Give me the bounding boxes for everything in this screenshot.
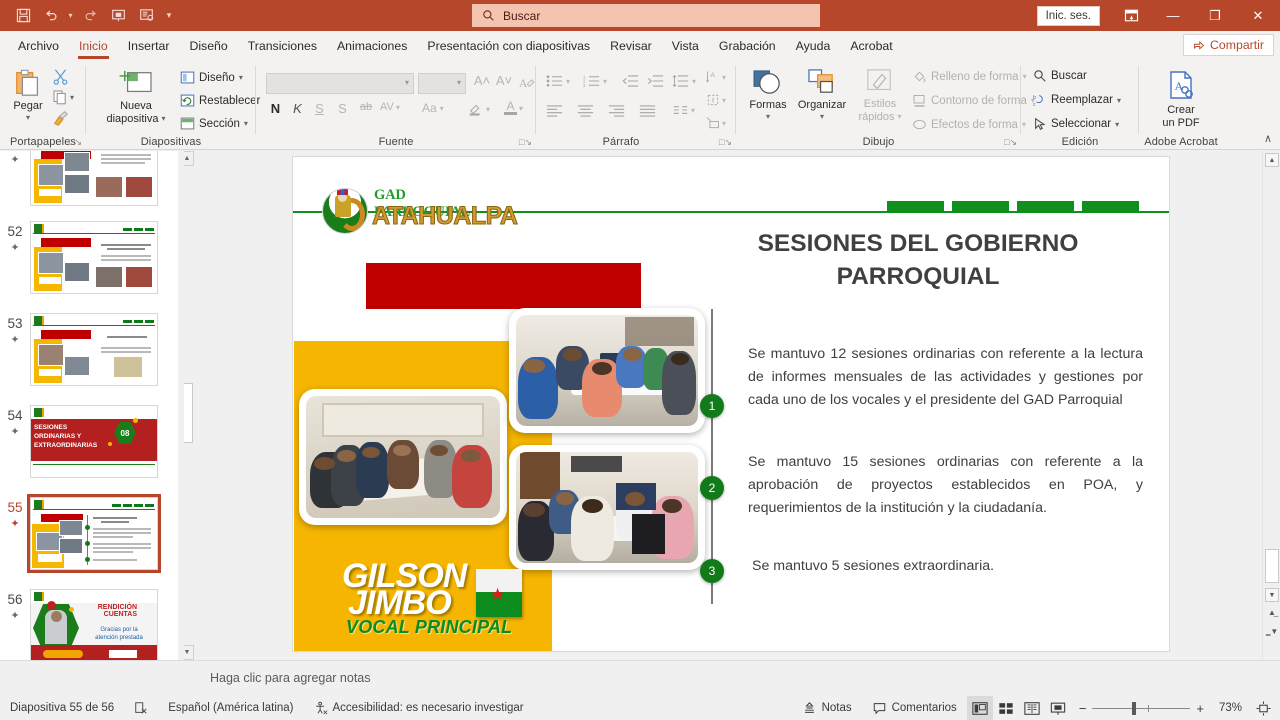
text-direction-button[interactable]: A ▾ [706, 70, 726, 84]
quick-styles-icon [865, 68, 895, 96]
slide-scroll-up-icon[interactable]: ▲ [1265, 153, 1279, 167]
zoom-out-button[interactable]: − [1079, 701, 1087, 716]
shapes-dropdown-icon[interactable]: ▾ [766, 112, 770, 121]
gad-parroquial-logo: GAD PARROQUIAL ATAHUALPA [322, 185, 502, 237]
search-input[interactable]: Buscar [472, 4, 820, 27]
tab-ayuda[interactable]: Ayuda [786, 35, 841, 57]
font-color-dropdown-icon[interactable]: ▾ [519, 104, 523, 113]
quick-styles-label-1: Estilos [864, 98, 896, 111]
notes-pane[interactable]: Haga clic para agregar notas [0, 660, 1280, 696]
ribbon-group-adobe-acrobat: A Crear un PDF Adobe Acrobat [1139, 60, 1223, 150]
align-text-dropdown-icon[interactable]: ▾ [722, 96, 726, 105]
thumbnail-number-54: 54✦ [0, 405, 30, 478]
status-bar: Diapositiva 55 de 56 Español (América la… [0, 696, 1280, 720]
minimize-button[interactable]: — [1152, 0, 1194, 31]
text-shadow-button[interactable]: S [334, 101, 351, 116]
justify-icon [639, 104, 656, 118]
svg-text:b: b [1033, 95, 1036, 101]
font-color-label: A [506, 101, 514, 112]
sign-in-button[interactable]: Inic. ses. [1037, 6, 1100, 26]
undo-dropdown-icon[interactable]: ▾ [66, 4, 75, 28]
text-direction-dropdown-icon[interactable]: ▾ [722, 73, 726, 82]
numbering-dropdown-icon[interactable]: ▾ [603, 77, 607, 86]
animation-star-icon: ✦ [0, 517, 30, 532]
language-status[interactable]: Español (América latina) [158, 696, 303, 720]
accessibility-status[interactable]: Accesibilidad: es necesario investigar [304, 696, 534, 720]
zoom-level[interactable]: 73% [1210, 702, 1242, 714]
font-dialog-launcher[interactable]: □↘ [519, 137, 532, 148]
arrange-dropdown-icon[interactable]: ▾ [820, 112, 824, 121]
thumb56-line1: Gracias por la [83, 626, 155, 634]
text-highlight-button[interactable]: ▾ [468, 101, 490, 117]
collapse-ribbon-button[interactable]: ∧ [1264, 132, 1272, 145]
change-case-dropdown-icon[interactable]: ▾ [440, 104, 444, 113]
cursor-icon [1033, 117, 1047, 131]
fit-slide-to-window-button[interactable] [1250, 696, 1276, 720]
presenter-view-icon[interactable] [133, 4, 159, 28]
notes-toggle[interactable]: Notas [792, 696, 862, 720]
notes-placeholder[interactable]: Haga clic para agregar notas [210, 671, 371, 685]
ribbon-group-fuente: ▾ ▾ A˄ A˅ A N K S S ab AV ▾ Aa ▾ [256, 60, 536, 150]
bullet-number-3: 3 [709, 564, 716, 578]
character-spacing-button[interactable]: AV ▾ [380, 101, 400, 113]
section-dropdown-icon[interactable]: ▾ [244, 119, 248, 128]
tab-grabacion[interactable]: Grabación [709, 35, 786, 57]
thumbnail-number-56: 56✦ [0, 589, 30, 660]
notes-label: Notas [822, 702, 852, 714]
shapes-label: Formas [749, 99, 786, 112]
thumbnail-52[interactable] [30, 221, 158, 294]
new-slide-label-1: Nueva [120, 100, 152, 113]
slide-scroll-down-icon[interactable]: ▼ [1265, 588, 1279, 602]
logo-line-2: ATAHUALPA [372, 202, 517, 231]
accessibility-label: Accesibilidad: es necesario investigar [333, 702, 524, 714]
shape-effects-icon [912, 117, 927, 132]
ribbon-group-dibujo: Formas ▾ Organizar ▾ Estilos r [736, 60, 1021, 150]
undo-icon[interactable] [38, 4, 64, 28]
new-slide-label-2: diapositiva [107, 113, 159, 126]
align-text-button[interactable]: ▾ [706, 93, 726, 107]
animation-star-icon: ✦ [0, 333, 30, 348]
bullet-marker-1: 1 [700, 394, 724, 418]
photo-meeting-laptop[interactable] [509, 308, 705, 433]
signature-block: GILSON JIMBO VOCAL PRINCIPAL ★ [338, 557, 548, 643]
share-button[interactable]: Compartir [1183, 34, 1274, 56]
replace-dropdown-icon[interactable]: ▾ [1117, 96, 1121, 105]
previous-slide-icon[interactable]: ▲̲ [1266, 608, 1278, 617]
shape-effects-button[interactable]: Efectos de forma ▾ [912, 117, 1026, 132]
thumbnail-51[interactable] [30, 151, 158, 206]
underline-button[interactable]: S [311, 101, 328, 116]
clear-formatting-button[interactable]: A [518, 74, 535, 96]
share-label: Compartir [1210, 38, 1264, 52]
thumbnail-row-53: 53✦ [0, 313, 178, 386]
search-placeholder: Buscar [503, 9, 540, 23]
current-slide[interactable]: GAD PARROQUIAL ATAHUALPA SESIONES DEL GO… [293, 157, 1169, 651]
comment-icon [872, 701, 887, 715]
bullets-button[interactable]: ▾ [546, 74, 570, 88]
layout-label: Diseño [199, 72, 235, 84]
align-center-icon [577, 104, 594, 118]
increase-indent-icon [647, 74, 664, 88]
drawing-dialog-launcher[interactable]: □↘ [1004, 137, 1017, 148]
animation-star-icon: ✦ [0, 425, 30, 440]
clear-formatting-icon: A [518, 74, 535, 91]
decrease-indent-button[interactable] [622, 74, 639, 93]
thumb56-line2: atención prestada [83, 634, 155, 642]
clipboard-dialog-launcher[interactable]: □↘ [69, 137, 82, 148]
group-label-dibujo: Dibujo [736, 136, 1021, 148]
start-from-beginning-icon[interactable] [105, 4, 131, 28]
shape-outline-label: Contorno de forma [931, 95, 1027, 107]
align-right-button[interactable] [608, 104, 625, 123]
quick-styles-label-2: rápidos [858, 111, 894, 124]
strikethrough-button[interactable]: ab [356, 101, 376, 113]
search-icon [1033, 69, 1047, 83]
ribbon-display-options-icon[interactable] [1110, 0, 1152, 31]
thumb54-line2: ORDINARIAS Y [34, 432, 97, 441]
change-case-label: Aa [422, 101, 437, 115]
quick-access-toolbar: ▾ ▾ [0, 4, 177, 28]
tab-transiciones[interactable]: Transiciones [238, 35, 327, 57]
shape-outline-icon [912, 93, 927, 108]
font-size-input[interactable]: ▾ [418, 73, 466, 94]
layout-dropdown-icon[interactable]: ▾ [239, 73, 243, 82]
thumbnail-row-54: 54✦ SESIONES ORDINARIAS Y EXTRAORDINARIA… [0, 405, 178, 478]
reading-view-button[interactable] [1019, 696, 1045, 720]
numbered-list-icon: 123 [583, 74, 600, 88]
section-button[interactable]: Sección ▾ [180, 116, 248, 131]
language-label: Español (América latina) [168, 702, 293, 714]
logo-emblem-icon [322, 188, 368, 234]
animation-star-icon: ✦ [0, 153, 30, 168]
copy-button[interactable]: ▾ [52, 89, 74, 105]
bullets-dropdown-icon[interactable]: ▾ [566, 77, 570, 86]
align-left-icon [546, 104, 563, 118]
paste-button[interactable]: Pegar ▾ [8, 68, 48, 122]
animation-star-icon: ✦ [0, 241, 30, 256]
justify-button[interactable] [639, 104, 656, 123]
format-painter-button[interactable] [52, 110, 69, 132]
ribbon-group-diapositivas: Nueva diapositiva ▾ Diseño ▾ Restablecer… [86, 60, 256, 150]
maximize-restore-button[interactable]: ❐ [1194, 0, 1236, 31]
new-slide-button[interactable]: Nueva diapositiva ▾ [100, 68, 172, 125]
paste-icon [13, 68, 43, 98]
tab-animaciones[interactable]: Animaciones [327, 35, 417, 57]
reading-view-icon [1024, 701, 1040, 716]
format-painter-icon [52, 110, 69, 127]
photo-meeting-table[interactable] [299, 389, 507, 525]
thumbnail-56[interactable]: RENDICIÓNCUENTAS Gracias por la atención… [30, 589, 158, 660]
red-banner[interactable] [366, 263, 641, 309]
slide-editing-area[interactable]: GAD PARROQUIAL ATAHUALPA SESIONES DEL GO… [194, 151, 1242, 660]
ribbon-tabs: Archivo Inicio Insertar Diseño Transicio… [0, 31, 1280, 60]
bullet-number-1: 1 [709, 399, 716, 413]
search-icon [482, 9, 495, 22]
cut-button[interactable] [52, 68, 69, 90]
notes-icon [802, 701, 817, 715]
align-center-button[interactable] [577, 104, 594, 123]
character-spacing-dropdown-icon[interactable]: ▾ [396, 103, 400, 112]
character-spacing-label: AV [380, 101, 394, 113]
create-pdf-label-1: Crear [1167, 104, 1195, 117]
select-label: Seleccionar [1051, 118, 1111, 130]
tab-diseno[interactable]: Diseño [179, 35, 237, 57]
flag-icon: ★ [476, 569, 522, 617]
font-name-dropdown-icon[interactable]: ▾ [405, 78, 409, 87]
thumbnail-row-52: 52✦ [0, 221, 178, 294]
redo-icon[interactable] [77, 4, 103, 28]
text-direction-icon: A [706, 70, 720, 84]
bullet-number-2: 2 [709, 481, 716, 495]
svg-text:c: c [1033, 102, 1036, 107]
comments-toggle[interactable]: Comentarios [862, 696, 967, 720]
align-right-icon [608, 104, 625, 118]
svg-text:A: A [711, 72, 716, 79]
smartart-dropdown-icon[interactable]: ▾ [722, 119, 726, 128]
zoom-in-button[interactable]: + [1196, 701, 1204, 716]
slide-counter-label: Diapositiva 55 de 56 [10, 702, 114, 714]
thumbnail-row-56: 56✦ RENDICIÓNCUENTAS Gracias por la aten… [0, 589, 178, 660]
svg-text:A: A [519, 76, 528, 90]
replace-label: Reemplazar [1051, 94, 1113, 106]
create-pdf-label-2: un PDF [1162, 117, 1199, 130]
slide-sorter-icon [998, 701, 1014, 716]
thumb54-badge: 08 [121, 429, 130, 438]
spell-check-status[interactable] [124, 696, 158, 720]
fit-slide-to-window-icon [1256, 701, 1271, 716]
thumbnail-row-55: 55✦ [0, 497, 178, 570]
bullet-marker-2: 2 [700, 476, 724, 500]
group-label-fuente: Fuente [256, 136, 536, 148]
group-label-edicion: Edición [1021, 136, 1139, 148]
bullet-text-3[interactable]: Se mantuvo 5 sesiones extraordinaria. [752, 555, 1147, 578]
tab-archivo[interactable]: Archivo [8, 35, 69, 57]
decrease-font-size-button[interactable]: A˅ [494, 73, 514, 88]
columns-dropdown-icon[interactable]: ▾ [691, 106, 695, 115]
shapes-icon [752, 68, 785, 97]
window-controls: Inic. ses. — ❐ ✕ [1037, 0, 1280, 31]
spell-check-icon [134, 701, 148, 715]
quick-styles-button[interactable]: Estilos rápidos ▾ [852, 68, 908, 123]
slide-sorter-view-button[interactable] [993, 696, 1019, 720]
new-slide-dropdown-icon[interactable]: ▾ [161, 114, 165, 123]
font-size-dropdown-icon[interactable]: ▾ [457, 78, 461, 87]
signature-role: VOCAL PRINCIPAL [346, 617, 512, 638]
line-spacing-dropdown-icon[interactable]: ▾ [692, 77, 696, 86]
thumbnail-54[interactable]: SESIONES ORDINARIAS Y EXTRAORDINARIAS 08 [30, 405, 158, 478]
quick-styles-dropdown-icon[interactable]: ▾ [898, 112, 902, 121]
ribbon: Pegar ▾ ▾ Portapapeles □↘ [0, 60, 1280, 150]
slide-area-scrollbar[interactable]: ▲ ▼ ▲̲ ‗▼ [1262, 151, 1280, 660]
thumbnail-number-53: 53✦ [0, 313, 30, 386]
thumbnail-53[interactable] [30, 313, 158, 386]
zoom-slider-handle[interactable] [1132, 702, 1136, 715]
paste-label: Pegar [13, 100, 42, 113]
tab-insertar[interactable]: Insertar [118, 35, 180, 57]
numbering-button[interactable]: 123 ▾ [583, 74, 607, 88]
tab-acrobat[interactable]: Acrobat [840, 35, 902, 57]
columns-icon [673, 104, 688, 116]
header-green-dashes [887, 201, 1139, 212]
paragraph-dialog-launcher[interactable]: □↘ [719, 137, 732, 148]
accessibility-icon [314, 701, 328, 715]
font-color-button[interactable]: A ▾ [504, 101, 523, 115]
slide-thumbnail-pane[interactable]: 51✦ [0, 151, 178, 660]
thumbnail-number-52: 52✦ [0, 221, 30, 294]
arrange-label: Organizar [798, 99, 846, 112]
normal-view-icon [972, 701, 988, 716]
slide-title-line-1: SESIONES DEL GOBIERNO [693, 227, 1143, 260]
slide-scroll-thumb[interactable] [1265, 549, 1279, 583]
photo-meeting-office[interactable] [509, 445, 705, 570]
tab-vista[interactable]: Vista [662, 35, 709, 57]
status-bar-right: Notas Comentarios − [792, 696, 1280, 720]
shape-fill-button[interactable]: Relleno de forma ▾ [912, 69, 1027, 84]
reset-label: Restablecer [199, 95, 260, 107]
reset-icon [180, 93, 195, 108]
convert-to-smartart-button[interactable]: ▾ [706, 116, 726, 130]
animation-star-icon: ✦ [0, 609, 30, 624]
slideshow-view-button[interactable] [1045, 696, 1071, 720]
paste-dropdown-icon[interactable]: ▾ [26, 113, 30, 122]
italic-button[interactable]: K [289, 101, 306, 116]
increase-font-size-button[interactable]: A˄ [472, 73, 492, 88]
ribbon-group-parrafo: ▾ 123 ▾ ▾ [536, 60, 736, 150]
copy-dropdown-icon[interactable]: ▾ [70, 93, 74, 102]
slide-title-line-2: PARROQUIAL [693, 260, 1143, 293]
thumbnail-number-55: 55✦ [0, 497, 30, 570]
share-icon [1193, 39, 1205, 51]
customize-quick-access-icon[interactable]: ▾ [161, 4, 177, 28]
thumbnail-row-51: 51✦ [0, 151, 178, 206]
change-case-button[interactable]: Aa ▾ [422, 101, 444, 115]
replace-button[interactable]: bc Reemplazar ▾ [1033, 93, 1121, 107]
smartart-icon [706, 116, 720, 130]
bullet-marker-3: 3 [700, 559, 724, 583]
select-dropdown-icon[interactable]: ▾ [1115, 120, 1119, 129]
slide-layout-button[interactable]: Diseño ▾ [180, 70, 243, 85]
bullet-list-icon [546, 74, 563, 88]
slide-title[interactable]: SESIONES DEL GOBIERNO PARROQUIAL [693, 227, 1143, 294]
text-highlight-dropdown-icon[interactable]: ▾ [486, 105, 490, 114]
line-spacing-button[interactable]: ▾ [672, 74, 696, 88]
section-label: Sección [199, 118, 240, 130]
shape-effects-label: Efectos de forma [931, 119, 1018, 131]
find-label: Buscar [1051, 70, 1087, 82]
powerpoint-window: ▾ ▾ rendicion de cuenta 2024 - PowerPoin… [0, 0, 1280, 720]
ribbon-group-portapapeles: Pegar ▾ ▾ Portapapeles □↘ [0, 60, 86, 150]
bullet-text-1[interactable]: Se mantuvo 12 sesiones ordinarias con re… [748, 343, 1143, 412]
thumbnail-number-51: 51✦ [0, 151, 30, 206]
tab-inicio[interactable]: Inicio [69, 35, 118, 57]
group-label-diapositivas: Diapositivas [86, 136, 256, 148]
shape-fill-label: Relleno de forma [931, 71, 1019, 83]
title-bar: ▾ ▾ rendicion de cuenta 2024 - PowerPoin… [0, 0, 1280, 31]
font-name-input[interactable]: ▾ [266, 73, 414, 94]
shape-fill-icon [912, 69, 927, 84]
create-pdf-icon: A [1166, 70, 1196, 102]
zoom-control[interactable]: − + 73% [1071, 701, 1250, 716]
comments-label: Comentarios [892, 702, 957, 714]
bold-button[interactable]: N [267, 101, 284, 116]
replace-icon: bc [1033, 93, 1047, 107]
slide-counter[interactable]: Diapositiva 55 de 56 [0, 696, 124, 720]
next-slide-icon[interactable]: ‗▼ [1266, 627, 1278, 636]
close-button[interactable]: ✕ [1236, 0, 1280, 31]
arrange-icon [807, 68, 838, 97]
thumb54-line1: SESIONES [34, 423, 97, 432]
slideshow-icon [1050, 701, 1066, 716]
scissors-icon [52, 68, 69, 85]
create-pdf-button[interactable]: A Crear un PDF [1157, 70, 1205, 129]
arrange-button[interactable]: Organizar ▾ [794, 68, 850, 121]
line-spacing-icon [672, 74, 689, 88]
new-slide-icon [119, 68, 153, 98]
find-button[interactable]: Buscar [1033, 69, 1087, 83]
layout-icon [180, 70, 195, 85]
align-left-button[interactable] [546, 104, 563, 123]
ribbon-group-edicion: Buscar bc Reemplazar ▾ Seleccionar ▾ Edi… [1021, 60, 1139, 150]
tab-presentacion[interactable]: Presentación con diapositivas [417, 35, 600, 57]
thumb54-line3: EXTRAORDINARIAS [34, 441, 97, 450]
align-text-icon [706, 93, 720, 107]
increase-indent-button[interactable] [647, 74, 664, 93]
svg-text:3: 3 [583, 83, 586, 88]
shapes-button[interactable]: Formas ▾ [744, 68, 792, 121]
select-button[interactable]: Seleccionar ▾ [1033, 117, 1119, 131]
group-label-parrafo: Párrafo [536, 136, 706, 148]
tab-revisar[interactable]: Revisar [600, 35, 662, 57]
shape-outline-button[interactable]: Contorno de forma ▾ [912, 93, 1035, 108]
text-highlight-icon [468, 101, 484, 117]
save-icon[interactable] [10, 4, 36, 28]
columns-button[interactable]: ▾ [673, 104, 695, 116]
pane-splitter[interactable] [178, 151, 184, 660]
section-icon [180, 116, 195, 131]
decrease-indent-icon [622, 74, 639, 88]
reset-slide-button[interactable]: Restablecer [180, 93, 260, 108]
group-label-adobe-acrobat: Adobe Acrobat [1139, 136, 1223, 148]
normal-view-button[interactable] [967, 696, 993, 720]
zoom-slider-track[interactable] [1092, 708, 1190, 709]
thumbnail-55[interactable] [30, 497, 158, 570]
bullet-text-2[interactable]: Se mantuvo 15 sesiones ordinarias con re… [748, 451, 1143, 520]
copy-icon [52, 89, 68, 105]
